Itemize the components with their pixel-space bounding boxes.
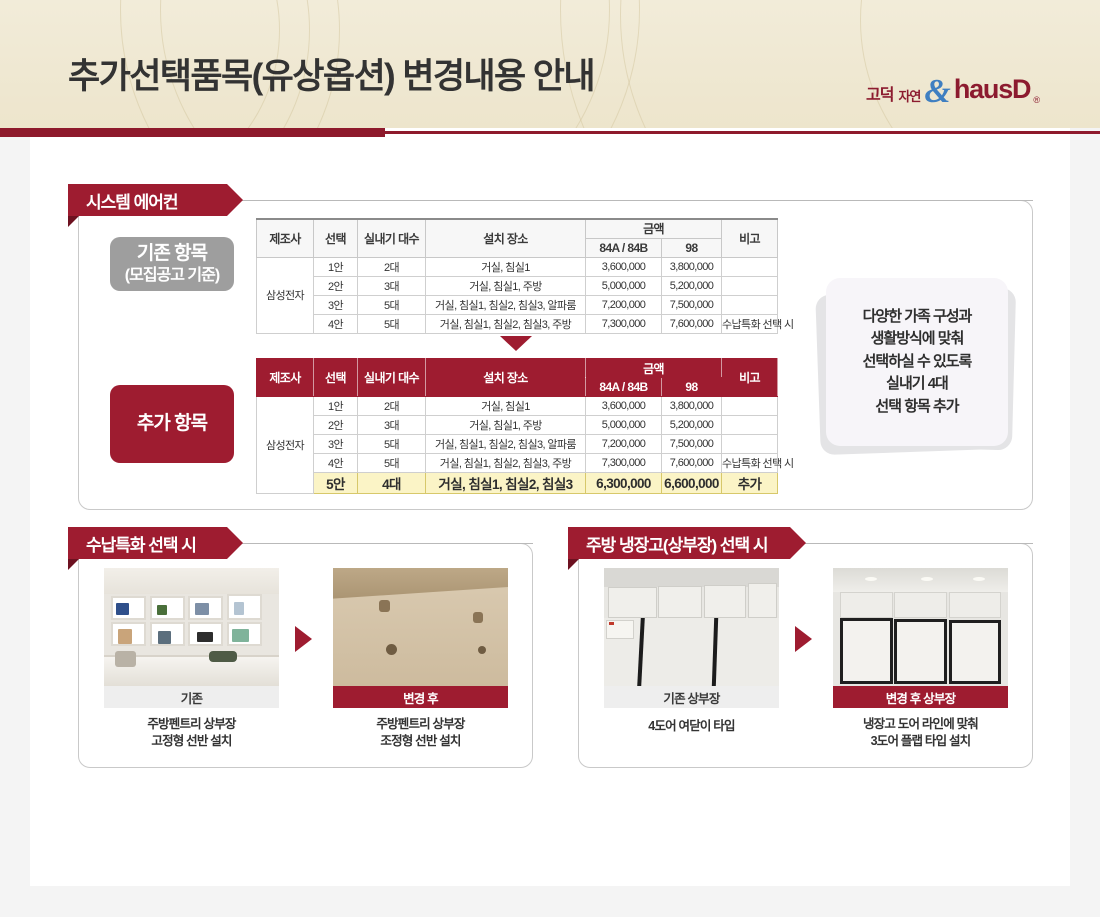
fridge-ribbon-line	[800, 543, 1033, 544]
table-header-row-1: 제조사 선택 실내기 대수 설치 장소 금액 비고	[257, 219, 778, 238]
fridge-before-block: 기존 상부장 4도어 여닫이 타입	[604, 568, 779, 728]
table-existing-options: 제조사 선택 실내기 대수 설치 장소 금액 비고 84A / 84B 98 삼…	[256, 218, 778, 334]
th-amount-98: 98	[662, 378, 722, 397]
cell-remark: 수납특화 선택 시	[722, 314, 778, 333]
cell-remark: 추가	[722, 473, 778, 494]
th-option: 선택	[314, 359, 358, 397]
cell-option: 3안	[314, 435, 358, 454]
cell-place: 거실, 침실1, 침실2, 침실3, 알파룸	[426, 295, 586, 314]
header-swirl	[860, 0, 1100, 128]
cell-price-84: 3,600,000	[586, 397, 662, 416]
cell-price-84: 5,000,000	[586, 416, 662, 435]
cell-place: 거실, 침실1, 주방	[426, 276, 586, 295]
fridge-before-caption-text: 기존 상부장	[663, 688, 719, 707]
th-remark: 비고	[722, 219, 778, 257]
cell-units: 5대	[358, 435, 426, 454]
cell-price-84: 6,300,000	[586, 473, 662, 494]
cell-units: 2대	[358, 257, 426, 276]
logo-text-hausd: hausD	[954, 74, 1031, 105]
th-maker: 제조사	[257, 219, 314, 257]
storage-before-desc: 주방펜트리 상부장 고정형 선반 설치	[104, 716, 279, 750]
table-row: 2안 3대 거실, 침실1, 주방 5,000,000 5,200,000	[257, 276, 778, 295]
table-row: 2안 3대 거실, 침실1, 주방 5,000,000 5,200,000	[257, 416, 778, 435]
cell-remark: 수납특화 선택 시	[722, 454, 778, 473]
cell-maker: 삼성전자	[257, 257, 314, 333]
fridge-transition-arrow-icon	[795, 626, 812, 652]
table-row: 3안 5대 거실, 침실1, 침실2, 침실3, 알파룸 7,200,000 7…	[257, 435, 778, 454]
cell-remark	[722, 435, 778, 454]
page-header: 추가선택품목(유상옵션) 변경내용 안내 고덕 자연 & hausD ®	[0, 0, 1100, 128]
cell-option: 5안	[314, 473, 358, 494]
cell-price-98: 7,600,000	[662, 314, 722, 333]
cell-option: 4안	[314, 314, 358, 333]
cell-price-98: 7,500,000	[662, 435, 722, 454]
logo-text-godeok: 고덕	[866, 81, 893, 105]
cell-option: 2안	[314, 276, 358, 295]
storage-before-photo	[104, 568, 279, 686]
table-row: 삼성전자 1안 2대 거실, 침실1 3,600,000 3,800,000	[257, 257, 778, 276]
table-header-row-1: 제조사 선택 실내기 대수 설치 장소 금액 비고	[257, 359, 778, 378]
storage-after-caption: 변경 후	[333, 686, 508, 708]
th-remark: 비고	[722, 359, 778, 397]
cell-price-98: 5,200,000	[662, 276, 722, 295]
th-units: 실내기 대수	[358, 359, 426, 397]
th-option: 선택	[314, 219, 358, 257]
cell-place: 거실, 침실1, 주방	[426, 416, 586, 435]
cell-option: 1안	[314, 397, 358, 416]
cell-price-98: 7,500,000	[662, 295, 722, 314]
cell-remark	[722, 416, 778, 435]
cell-place: 거실, 침실1	[426, 397, 586, 416]
fridge-before-desc: 4도어 여닫이 타입	[604, 718, 779, 735]
cell-units: 3대	[358, 416, 426, 435]
cell-option: 3안	[314, 295, 358, 314]
th-amount-84: 84A / 84B	[586, 378, 662, 397]
section-ribbon-fridge: 주방 냉장고(상부장) 선택 시	[568, 527, 806, 559]
cell-units: 5대	[358, 454, 426, 473]
th-amount-84: 84A / 84B	[586, 238, 662, 257]
fridge-before-caption: 기존 상부장	[604, 686, 779, 708]
badge-added-item: 추가 항목	[110, 385, 234, 463]
storage-before-block: 기존 주방펜트리 상부장 고정형 선반 설치	[104, 568, 279, 728]
table-existing-body: 삼성전자 1안 2대 거실, 침실1 3,600,000 3,800,000 2…	[257, 257, 778, 333]
cell-option: 1안	[314, 257, 358, 276]
brand-logo: 고덕 자연 & hausD ®	[866, 74, 1040, 105]
cell-units: 5대	[358, 295, 426, 314]
cell-remark	[722, 295, 778, 314]
logo-registered-icon: ®	[1033, 95, 1040, 105]
cell-units: 4대	[358, 473, 426, 494]
badge-existing-line1: 기존 항목	[137, 242, 207, 266]
table-added-options: 제조사 선택 실내기 대수 설치 장소 금액 비고 84A / 84B 98 삼…	[256, 358, 778, 494]
cell-price-98: 5,200,000	[662, 416, 722, 435]
table-row: 3안 5대 거실, 침실1, 침실2, 침실3, 알파룸 7,200,000 7…	[257, 295, 778, 314]
section-ribbon-aircon: 시스템 에어컨	[68, 184, 243, 216]
storage-after-photo	[333, 568, 508, 686]
th-amount: 금액	[586, 219, 722, 238]
cell-price-84: 7,200,000	[586, 295, 662, 314]
table-added-body: 삼성전자 1안 2대 거실, 침실1 3,600,000 3,800,000 2…	[257, 397, 778, 494]
table-row: 4안 5대 거실, 침실1, 침실2, 침실3, 주방 7,300,000 7,…	[257, 314, 778, 333]
aircon-ribbon-label: 시스템 에어컨	[86, 188, 178, 213]
th-maker: 제조사	[257, 359, 314, 397]
cell-remark	[722, 397, 778, 416]
fridge-after-caption-text: 변경 후 상부장	[886, 688, 956, 707]
header-accent-line	[385, 131, 1100, 134]
storage-after-desc: 주방펜트리 상부장 조정형 선반 설치	[333, 716, 508, 750]
storage-before-caption: 기존	[104, 686, 279, 708]
fridge-before-photo	[604, 568, 779, 686]
cell-price-98: 6,600,000	[662, 473, 722, 494]
th-amount-98: 98	[662, 238, 722, 257]
storage-transition-arrow-icon	[295, 626, 312, 652]
table-existing-head: 제조사 선택 실내기 대수 설치 장소 금액 비고 84A / 84B 98	[257, 219, 778, 257]
table-row: 4안 5대 거실, 침실1, 침실2, 침실3, 주방 7,300,000 7,…	[257, 454, 778, 473]
cell-price-84: 5,000,000	[586, 276, 662, 295]
transition-arrow-down-icon	[500, 336, 532, 351]
cell-price-84: 3,600,000	[586, 257, 662, 276]
table-row: 삼성전자 1안 2대 거실, 침실1 3,600,000 3,800,000	[257, 397, 778, 416]
fridge-ribbon-label: 주방 냉장고(상부장) 선택 시	[586, 531, 768, 556]
cell-place: 거실, 침실1, 침실2, 침실3, 주방	[426, 454, 586, 473]
cell-place: 거실, 침실1, 침실2, 침실3, 알파룸	[426, 435, 586, 454]
cell-place: 거실, 침실1, 침실2, 침실3	[426, 473, 586, 494]
header-accent-bar	[0, 128, 385, 137]
logo-text-jayeon: 자연	[898, 86, 920, 105]
cell-price-98: 3,800,000	[662, 257, 722, 276]
storage-after-block: 변경 후 주방펜트리 상부장 조정형 선반 설치	[333, 568, 508, 728]
section-ribbon-storage: 수납특화 선택 시	[68, 527, 243, 559]
cell-units: 2대	[358, 397, 426, 416]
badge-existing-item: 기존 항목 (모집공고 기준)	[110, 237, 234, 291]
cell-option: 4안	[314, 454, 358, 473]
cell-option: 2안	[314, 416, 358, 435]
cell-price-98: 3,800,000	[662, 397, 722, 416]
th-place: 설치 장소	[426, 359, 586, 397]
page-title: 추가선택품목(유상옵션) 변경내용 안내	[68, 48, 594, 99]
aircon-ribbon-line	[238, 200, 1033, 201]
th-place: 설치 장소	[426, 219, 586, 257]
callout-note-stack: 다양한 가족 구성과 생활방식에 맞춰 선택하실 수 있도록 실내기 4대 선택…	[818, 278, 1018, 460]
storage-ribbon-label: 수납특화 선택 시	[86, 531, 196, 556]
storage-ribbon-line	[238, 543, 533, 544]
cell-price-84: 7,200,000	[586, 435, 662, 454]
fridge-after-block: 변경 후 상부장 냉장고 도어 라인에 맞춰 3도어 플랩 타입 설치	[833, 568, 1008, 728]
storage-after-caption-text: 변경 후	[403, 688, 438, 707]
cell-place: 거실, 침실1	[426, 257, 586, 276]
th-units: 실내기 대수	[358, 219, 426, 257]
cell-units: 3대	[358, 276, 426, 295]
table-row-highlighted: 5안 4대 거실, 침실1, 침실2, 침실3 6,300,000 6,600,…	[257, 473, 778, 494]
cell-remark	[722, 257, 778, 276]
th-amount: 금액	[586, 359, 722, 378]
cell-price-84: 7,300,000	[586, 454, 662, 473]
fridge-after-caption: 변경 후 상부장	[833, 686, 1008, 708]
cell-price-84: 7,300,000	[586, 314, 662, 333]
callout-note: 다양한 가족 구성과 생활방식에 맞춰 선택하실 수 있도록 실내기 4대 선택…	[826, 278, 1008, 446]
storage-before-caption-text: 기존	[181, 688, 202, 707]
table-added-head: 제조사 선택 실내기 대수 설치 장소 금액 비고 84A / 84B 98	[257, 359, 778, 397]
cell-units: 5대	[358, 314, 426, 333]
cell-place: 거실, 침실1, 침실2, 침실3, 주방	[426, 314, 586, 333]
badge-existing-line2: (모집공고 기준)	[125, 266, 219, 286]
fridge-after-photo	[833, 568, 1008, 686]
cell-maker: 삼성전자	[257, 397, 314, 494]
cell-remark	[722, 276, 778, 295]
fridge-after-desc: 냉장고 도어 라인에 맞춰 3도어 플랩 타입 설치	[833, 716, 1008, 750]
cell-price-98: 7,600,000	[662, 454, 722, 473]
logo-ampersand-icon: &	[924, 78, 950, 105]
badge-added-line1: 추가 항목	[137, 412, 207, 436]
